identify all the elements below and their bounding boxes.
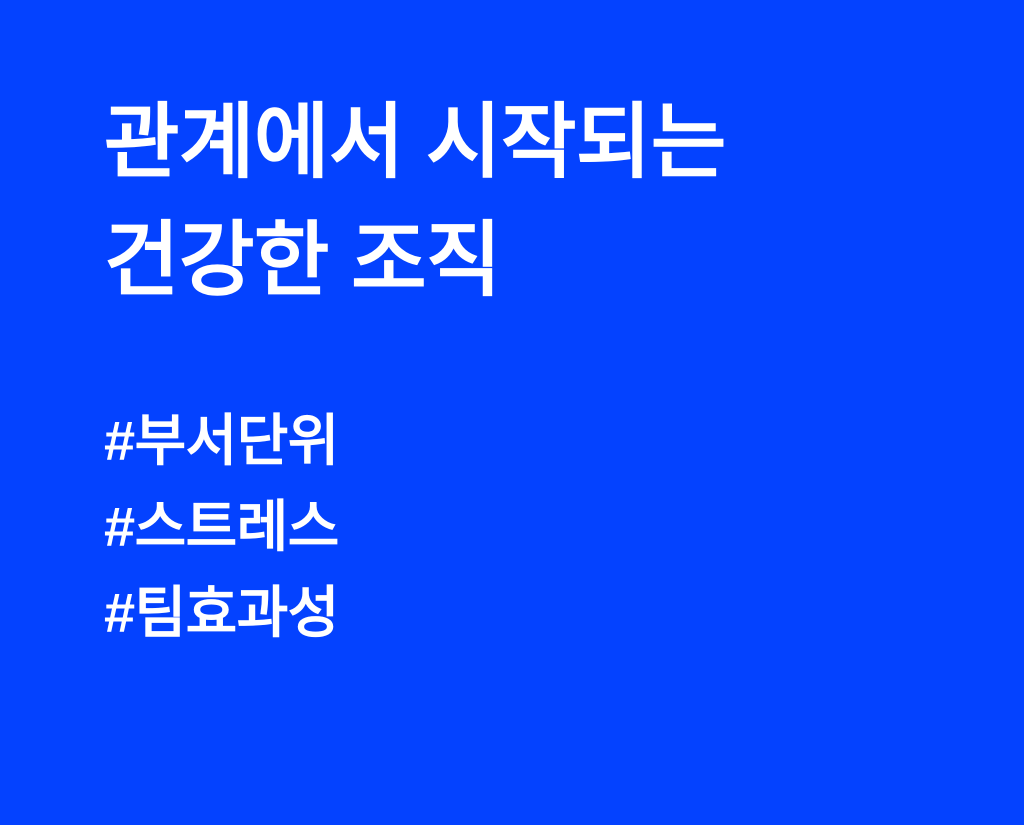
hash-icon: # [104, 495, 135, 558]
hash-icon: # [104, 409, 135, 472]
hashtag-label: 부서단위 [135, 409, 339, 472]
hashtag-label: 스트레스 [135, 495, 339, 558]
list-item: #스트레스 [104, 484, 964, 570]
headline-line-2: 건강한 조직 [104, 202, 964, 320]
page-title: 관계에서 시작되는 건강한 조직 [104, 84, 964, 320]
slide-content: 관계에서 시작되는 건강한 조직 #부서단위 #스트레스 #팀효과성 [104, 84, 964, 656]
list-item: #부서단위 [104, 398, 964, 484]
hashtag-label: 팀효과성 [135, 581, 339, 644]
list-item: #팀효과성 [104, 570, 964, 656]
hash-icon: # [104, 581, 135, 644]
headline-line-1: 관계에서 시작되는 [104, 84, 964, 202]
hashtag-list: #부서단위 #스트레스 #팀효과성 [104, 398, 964, 656]
promotional-slide: 관계에서 시작되는 건강한 조직 #부서단위 #스트레스 #팀효과성 [0, 0, 1024, 825]
